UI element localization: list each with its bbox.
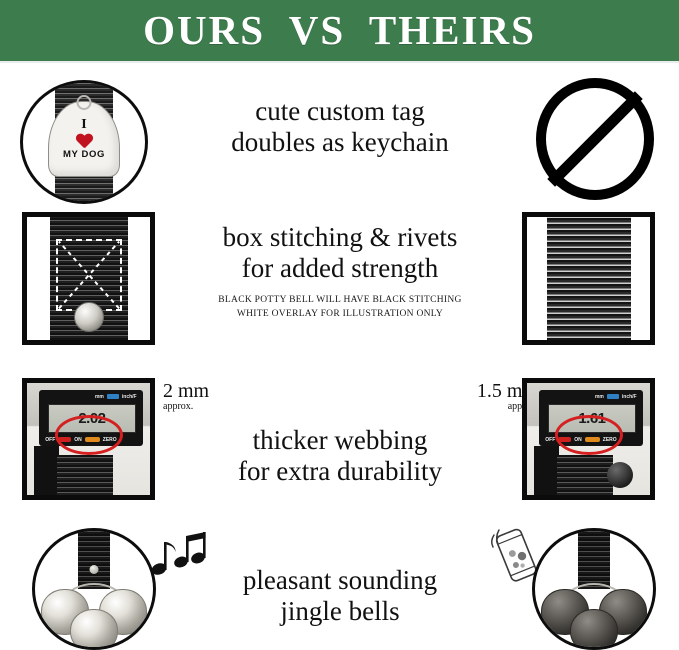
headline-custom-tag: cute custom tag doubles as keychain (170, 96, 510, 158)
caliper-unit-mm: mm (95, 394, 104, 400)
bell-strap (78, 531, 110, 589)
headline-thicker-webbing: thicker webbing for extra durability (170, 425, 510, 487)
headline-line: doubles as keychain (170, 127, 510, 158)
caliper-unit-chip (607, 394, 619, 399)
caliper-knob (607, 462, 633, 488)
measurement-ours: 2 mm approx. (163, 381, 209, 413)
ours-photo-box-stitching (22, 212, 155, 345)
box-stitch-overlay (56, 239, 122, 311)
disclaimer-line: BLACK POTTY BELL WILL HAVE BLACK STITCHI… (160, 293, 520, 308)
headline-box-stitching: box stitching & rivets for added strengt… (160, 222, 520, 322)
headline-line: jingle bells (170, 596, 510, 627)
webbing-texture (547, 213, 631, 345)
tag-ring-icon (77, 95, 92, 110)
ours-photo-caliper: mm inch/F 2.02 OFF ON ZERO (22, 378, 155, 500)
ours-photo-jingle-bells (32, 528, 156, 650)
headline-line: for added strength (160, 253, 520, 284)
measurement-value: 2 mm (163, 381, 209, 402)
comparison-infographic: OURS VS THEIRS I MY DOG cute custom tag … (0, 0, 679, 649)
theirs-photo-jingle-bells (532, 528, 656, 650)
header-banner: OURS VS THEIRS (0, 0, 679, 61)
disclaimer-text: BLACK POTTY BELL WILL HAVE BLACK STITCHI… (160, 293, 520, 322)
no-entry-icon (536, 78, 654, 200)
jingle-bell (70, 609, 118, 650)
ours-photo-custom-tag: I MY DOG (20, 80, 148, 204)
disclaimer-line: WHITE OVERLAY FOR ILLUSTRATION ONLY (160, 307, 520, 322)
rivet-icon (74, 302, 104, 332)
caliper-unit-inch: inch/F (122, 394, 137, 400)
headline-line: pleasant sounding (170, 565, 510, 596)
caliper-unit-labels: mm inch/F (95, 394, 137, 400)
heart-icon (76, 134, 93, 149)
theirs-photo-plain-webbing (522, 212, 655, 345)
caliper-jaw (534, 446, 559, 495)
highlight-ellipse (555, 415, 623, 455)
measurement-qualifier: approx. (163, 402, 209, 413)
headline-line: for extra durability (170, 456, 510, 487)
snap-rivet-icon (90, 565, 99, 574)
headline-jingle-bells: pleasant sounding jingle bells (170, 565, 510, 627)
jingle-bell (570, 609, 618, 650)
headline-line: thicker webbing (170, 425, 510, 456)
theirs-photo-caliper: mm inch/F 1.61 OFF ON ZERO (522, 378, 655, 500)
tag-line-2: MY DOG (63, 150, 105, 160)
highlight-ellipse (55, 415, 123, 455)
caliper-button-off: OFF (545, 437, 555, 443)
dog-tag: I MY DOG (48, 101, 120, 177)
header-divider (0, 61, 679, 63)
page-title: OURS VS THEIRS (143, 10, 536, 51)
caliper-button-off: OFF (45, 437, 55, 443)
caliper-jaw (34, 446, 59, 495)
tag-line-1: I (81, 118, 86, 132)
webbing-sample (557, 455, 614, 495)
webbing-sample (57, 455, 114, 495)
bell-strap (578, 531, 610, 589)
caliper-unit-labels: mm inch/F (595, 394, 637, 400)
headline-line: cute custom tag (170, 96, 510, 127)
caliper-unit-chip (107, 394, 119, 399)
caliper-unit-mm: mm (595, 394, 604, 400)
caliper-unit-inch: inch/F (622, 394, 637, 400)
headline-line: box stitching & rivets (160, 222, 520, 253)
